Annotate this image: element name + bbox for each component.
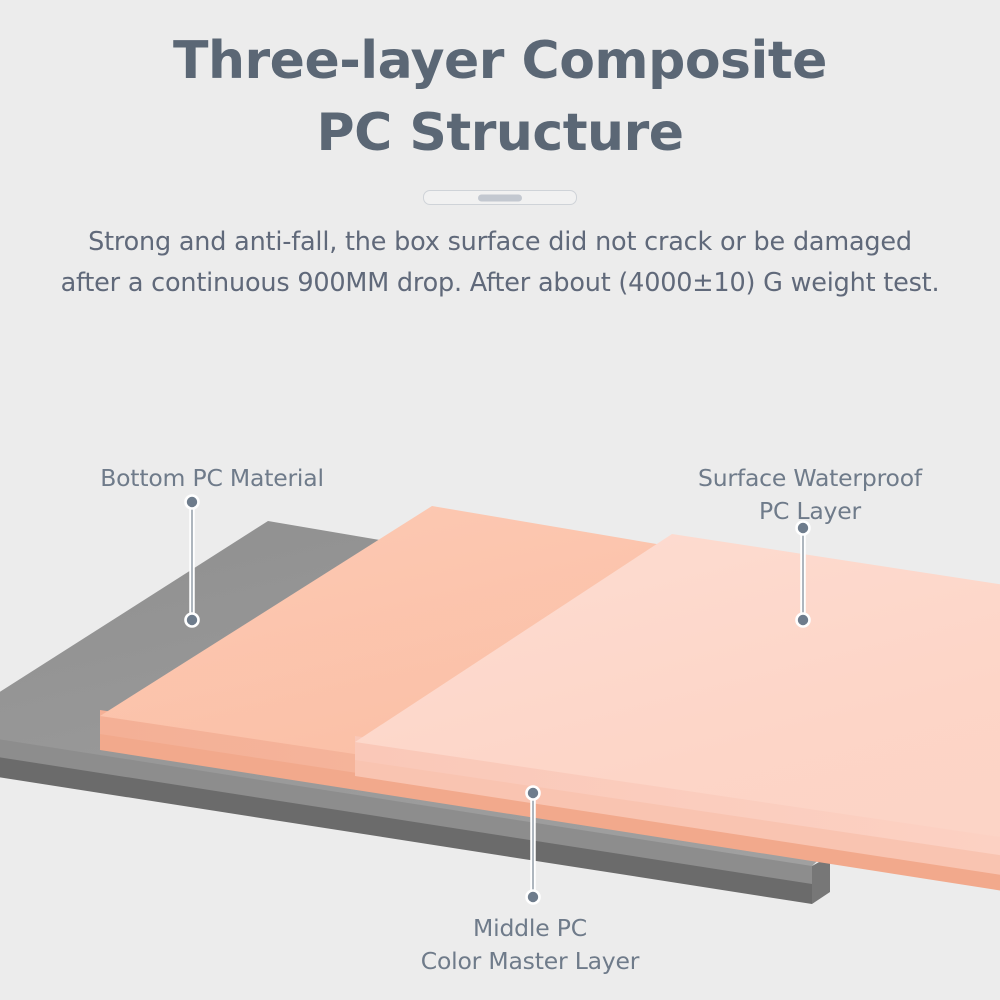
callout-dot-bottom-start [186, 496, 199, 509]
callout-label-middle-line-1: Middle PC [370, 912, 690, 945]
callout-dot-middle-start [527, 787, 540, 800]
callout-label-surface-line-2: PC Layer [640, 495, 980, 528]
product-infographic: Three-layer Composite PC Structure Stron… [0, 0, 1000, 1000]
callout-label-bottom-pc-material: Bottom PC Material [52, 462, 372, 495]
callout-dot-bottom-end [186, 614, 199, 627]
callout-dot-middle-end [527, 891, 540, 904]
callout-label-surface-waterproof-pc-layer: Surface Waterproof PC Layer [640, 462, 980, 528]
callout-dot-surface-end [797, 614, 810, 627]
callout-label-bottom-line-1: Bottom PC Material [52, 462, 372, 495]
callout-label-middle-line-2: Color Master Layer [370, 945, 690, 978]
callout-label-surface-line-1: Surface Waterproof [640, 462, 980, 495]
callout-label-middle-pc-color-master-layer: Middle PC Color Master Layer [370, 912, 690, 978]
